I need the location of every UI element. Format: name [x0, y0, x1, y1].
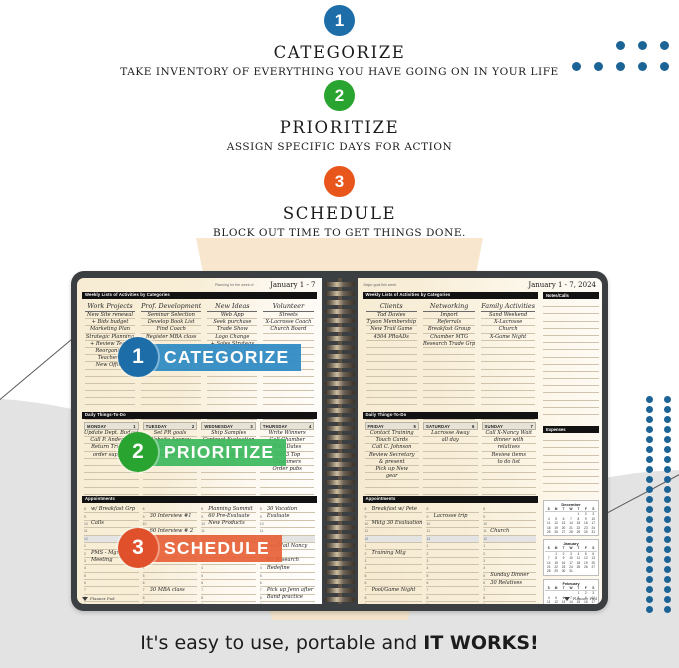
appointment-row[interactable]: 8	[365, 595, 423, 602]
spiral-ring	[325, 525, 355, 530]
ruled-line[interactable]	[543, 393, 599, 400]
list-row[interactable]: 4504 PRoADs	[366, 334, 418, 341]
todo-item: dinner with	[482, 437, 537, 444]
right-page-brand-text: Planner Pad	[572, 596, 597, 601]
appointment-hour: 12	[84, 537, 91, 541]
todo-row[interactable]	[482, 480, 537, 487]
todo-item: & present	[365, 459, 420, 466]
todo-row[interactable]	[423, 466, 478, 473]
appointment-hour: 7	[365, 588, 372, 592]
appointment-hour: 8	[365, 596, 372, 600]
list-item: Import	[423, 312, 475, 319]
mini-calendar-day[interactable]: 27	[560, 530, 567, 534]
appointment-row[interactable]: 5	[84, 573, 139, 580]
appointment-row[interactable]: 3	[483, 558, 536, 565]
appointment-hour: 8	[365, 507, 372, 511]
list-row[interactable]	[423, 348, 475, 355]
spiral-ring	[325, 543, 355, 548]
appointment-row[interactable]: 4	[365, 565, 423, 572]
mini-calendar-day[interactable]: 28	[567, 530, 574, 534]
ruled-line[interactable]	[543, 336, 599, 343]
appointment-hour: 12	[483, 537, 490, 541]
decorative-dot	[646, 536, 653, 543]
list-row[interactable]	[481, 370, 535, 377]
appointment-row[interactable]: 9	[365, 602, 423, 604]
appointment-row[interactable]: 730 MBA class	[143, 587, 198, 594]
todo-row[interactable]	[143, 480, 198, 487]
list-row[interactable]: Sand Weekend	[481, 312, 535, 319]
mini-calendar-day[interactable]: 29	[575, 530, 582, 534]
list-row[interactable]	[85, 391, 135, 398]
list-row[interactable]: Tad Davies	[366, 312, 418, 319]
decorative-dot	[664, 416, 671, 423]
list-row[interactable]	[481, 341, 535, 348]
list-row[interactable]	[366, 384, 418, 391]
step-1-title: CATEGORIZE	[0, 43, 679, 62]
ruled-line[interactable]	[543, 408, 599, 415]
appointment-row[interactable]: 7Pool/Game Night	[365, 587, 423, 594]
todo-row[interactable]	[260, 488, 315, 495]
appointment-row[interactable]: 9	[483, 513, 536, 520]
list-column: ClientsTad DaviesTyson MembershipNew Tra…	[363, 302, 421, 420]
decorative-dot	[646, 596, 653, 603]
list-row[interactable]	[263, 398, 313, 405]
appointment-row[interactable]: 3	[426, 558, 479, 565]
left-page-brandmark: Planner Pad	[82, 596, 115, 601]
ruled-line[interactable]	[543, 358, 599, 365]
appointment-row[interactable]: 8Band practice	[260, 595, 315, 602]
decorative-dot	[646, 496, 653, 503]
list-row[interactable]	[481, 362, 535, 369]
todo-row[interactable]: to do list	[482, 459, 537, 466]
mini-calendar-day[interactable]: 29	[552, 569, 559, 573]
list-row[interactable]	[423, 391, 475, 398]
todo-row[interactable]: Call C. Johnson	[365, 444, 420, 451]
list-row[interactable]	[423, 355, 475, 362]
list-row[interactable]	[366, 341, 418, 348]
decorative-dot	[664, 486, 671, 493]
appointment-row[interactable]: 930 Interview #1	[143, 513, 198, 520]
todo-row[interactable]	[84, 488, 139, 495]
mini-calendar-day[interactable]: 26	[552, 530, 559, 534]
appointment-row[interactable]: 11	[426, 528, 479, 535]
list-column-header: New Ideas	[207, 302, 257, 312]
list-row[interactable]	[423, 377, 475, 384]
list-row[interactable]	[141, 391, 201, 398]
appointment-row[interactable]: 7	[201, 587, 256, 594]
appointment-column: 89Lacrosse trip101112123456789	[424, 506, 481, 604]
appointment-hour: 6	[201, 581, 208, 585]
todo-row[interactable]: Call X-Nancy Wait	[482, 430, 537, 437]
ruled-line[interactable]	[543, 322, 599, 329]
todo-row[interactable]: Lacrosse Away	[423, 430, 478, 437]
list-row[interactable]: Chamber MTG	[423, 334, 475, 341]
appointment-row[interactable]: 7	[483, 587, 536, 594]
decorative-dot	[646, 546, 653, 553]
appointment-row[interactable]: 9	[84, 602, 139, 604]
list-row[interactable]: Seminar Selection	[141, 312, 201, 319]
spiral-ring	[325, 489, 355, 494]
list-column-header: Networking	[423, 302, 475, 312]
ruled-line[interactable]	[543, 365, 599, 372]
list-row[interactable]	[423, 362, 475, 369]
ruled-line[interactable]	[543, 401, 599, 408]
ruled-line[interactable]	[543, 350, 599, 357]
list-row[interactable]: X-Lacrosse Coach	[263, 319, 313, 326]
spiral-ring	[325, 399, 355, 404]
todo-row[interactable]: gear	[365, 473, 420, 480]
appointment-hour: 5	[426, 574, 433, 578]
appointment-row[interactable]: 2	[483, 550, 536, 557]
list-item: Church	[481, 326, 535, 333]
appointment-row[interactable]: 10Mktg 30 Evaluation	[365, 521, 423, 528]
todo-item: Review Secretary	[365, 452, 420, 459]
list-row[interactable]: Research Trade Grp	[423, 341, 475, 348]
todo-row[interactable]: Review Secretary	[365, 452, 420, 459]
appointment-entry: Band practice	[267, 594, 315, 601]
list-row[interactable]	[366, 391, 418, 398]
appointment-row[interactable]: 8	[483, 506, 536, 513]
appointment-row[interactable]: 8w/ Breakfast Grp	[84, 506, 139, 513]
list-item: Streets	[263, 312, 313, 319]
list-row[interactable]	[263, 377, 313, 384]
appointment-hour: 1	[365, 544, 372, 548]
appointment-row[interactable]: 5	[365, 573, 423, 580]
list-row[interactable]	[85, 398, 135, 405]
appointment-row[interactable]: 1	[483, 543, 536, 550]
appointment-row[interactable]: 8	[143, 595, 198, 602]
todo-row[interactable]	[260, 473, 315, 480]
mini-calendar-day[interactable]	[575, 569, 582, 573]
mini-calendar-day[interactable]: 12	[552, 600, 559, 604]
ruled-line[interactable]	[543, 386, 599, 393]
appointment-row[interactable]: 12	[483, 536, 536, 543]
step-2: 2 PRIORITIZE ASSIGN SPECIFIC DAYS FOR AC…	[0, 80, 679, 153]
list-row[interactable]	[263, 384, 313, 391]
list-row[interactable]	[481, 355, 535, 362]
list-row[interactable]	[141, 384, 201, 391]
list-item: Tad Davies	[366, 312, 418, 319]
appointment-hour: 3	[84, 559, 91, 563]
right-appointments-columns: 8Breakfast w/ Pete910Mktg 30 Evaluation1…	[363, 506, 539, 604]
right-weekly-lists-section: Weekly Lists of Activities by Categories…	[363, 292, 539, 420]
appointment-row[interactable]: 9	[260, 602, 315, 604]
appointment-row[interactable]: 2Training Mtg	[365, 550, 423, 557]
list-row[interactable]: New Trail Game	[366, 326, 418, 333]
mini-calendar-day[interactable]: 30	[582, 530, 589, 534]
appointment-row[interactable]: 6	[201, 580, 256, 587]
list-row[interactable]: Web App	[207, 312, 257, 319]
list-item: Trade Show	[207, 326, 257, 333]
day-header: FRIDAY5	[365, 422, 420, 430]
appointment-hour: 11	[84, 529, 91, 533]
list-row[interactable]	[141, 398, 201, 405]
appointment-row[interactable]: 9	[426, 602, 479, 604]
todo-row[interactable]	[423, 488, 478, 495]
list-row[interactable]	[423, 384, 475, 391]
appointment-row[interactable]: 8	[201, 595, 256, 602]
todo-row[interactable]	[260, 480, 315, 487]
todo-row[interactable]: Contact Training	[365, 430, 420, 437]
appointment-row[interactable]: 9	[201, 602, 256, 604]
decorative-dot	[664, 446, 671, 453]
todo-row[interactable]	[143, 473, 198, 480]
list-row[interactable]	[423, 398, 475, 405]
list-row[interactable]	[366, 398, 418, 405]
ruled-line[interactable]	[543, 463, 599, 470]
todo-row[interactable]: relatives	[482, 444, 537, 451]
appointment-hour: 8	[260, 596, 267, 600]
list-row[interactable]: Trade Show	[207, 326, 257, 333]
appointment-row[interactable]: 11	[365, 528, 423, 535]
list-row[interactable]	[141, 377, 201, 384]
appointment-hour: 1	[84, 544, 91, 548]
appointment-row[interactable]: 3	[365, 558, 423, 565]
mini-calendar-day[interactable]: 28	[545, 569, 552, 573]
appointment-row[interactable]: 6	[84, 580, 139, 587]
decorative-dot	[664, 606, 671, 613]
todo-row[interactable]	[482, 466, 537, 473]
list-item: Sand Weekend	[481, 312, 535, 319]
decorative-dot	[664, 596, 671, 603]
appointment-row[interactable]: 6	[426, 580, 479, 587]
mini-calendar-day[interactable]: 31	[567, 569, 574, 573]
decorative-dot	[664, 556, 671, 563]
list-row[interactable]: Import	[423, 312, 475, 319]
ruled-line[interactable]	[543, 434, 599, 441]
appointment-row[interactable]: 2	[426, 550, 479, 557]
list-row[interactable]: Referrals	[423, 319, 475, 326]
day-header: MONDAY1	[84, 422, 139, 430]
mini-calendar-day[interactable]	[590, 569, 597, 573]
decorative-dot	[646, 526, 653, 533]
list-row[interactable]: Develop Book List	[141, 319, 201, 326]
appointment-row[interactable]: 9	[143, 602, 198, 604]
list-row[interactable]: Church Board	[263, 326, 313, 333]
appointment-hour: 9	[84, 603, 91, 604]
mini-calendar: DecemberSMTWTFS1234567891011121314151617…	[543, 500, 599, 536]
mini-calendar-day[interactable]: 25	[545, 530, 552, 534]
todo-row[interactable]	[423, 444, 478, 451]
todo-row[interactable]	[365, 488, 420, 495]
day-header: SATURDAY6	[423, 422, 478, 430]
appointment-row[interactable]: 8Breakfast w/ Pete	[365, 506, 423, 513]
appointment-hour: 10	[426, 522, 433, 526]
overlay-stamp-2-number: 2	[118, 432, 158, 472]
ruled-line[interactable]	[543, 456, 599, 463]
list-row[interactable]	[207, 391, 257, 398]
list-row[interactable]	[207, 384, 257, 391]
todo-row[interactable]	[201, 488, 256, 495]
appointment-row[interactable]: 7	[84, 587, 139, 594]
list-row[interactable]: X-Game Night	[481, 334, 535, 341]
decorative-dot	[664, 456, 671, 463]
list-row[interactable]	[481, 384, 535, 391]
todo-row[interactable]: Touch Cards	[365, 437, 420, 444]
appointment-row[interactable]: 9Lacrosse trip	[426, 513, 479, 520]
todo-row[interactable]	[423, 452, 478, 459]
spiral-ring	[325, 552, 355, 557]
todo-row[interactable]	[143, 488, 198, 495]
left-page-brand-text: Planner Pad	[90, 596, 115, 601]
appointment-row[interactable]: 630 Relatives	[483, 580, 536, 587]
appointment-row[interactable]: 8	[483, 595, 536, 602]
todo-row[interactable]	[482, 488, 537, 495]
list-item: Marketing Plan	[85, 326, 135, 333]
spiral-ring	[325, 363, 355, 368]
appointment-hour: 9	[483, 515, 490, 519]
day-column: SATURDAY6Lacrosse Awayall day	[421, 422, 480, 495]
list-row[interactable]: Find Coach	[141, 326, 201, 333]
ruled-line[interactable]	[543, 372, 599, 379]
day-column: SUNDAY7Call X-Nancy Waitdinner withrelat…	[480, 422, 539, 495]
list-row[interactable]: Streets	[263, 312, 313, 319]
appointment-row[interactable]: 1	[426, 543, 479, 550]
appointment-entry: Planning Summit	[208, 506, 256, 513]
appointment-row[interactable]: 5	[143, 573, 198, 580]
todo-row[interactable]	[201, 473, 256, 480]
appointment-row[interactable]: 5	[260, 573, 315, 580]
appointment-entry: Pool/Game Night	[372, 587, 423, 594]
spiral-ring	[325, 327, 355, 332]
appointment-hour: 4	[426, 566, 433, 570]
todo-row[interactable]	[482, 473, 537, 480]
list-row[interactable]	[207, 398, 257, 405]
right-weekly-lists-bar-label: Weekly Lists of Activities by Categories	[363, 293, 451, 297]
ruled-line[interactable]	[543, 441, 599, 448]
list-row[interactable]	[366, 362, 418, 369]
day-number: 6	[472, 424, 475, 429]
spiral-ring	[325, 579, 355, 584]
todo-row[interactable]: Pick up New	[365, 466, 420, 473]
appointment-hour: 3	[426, 559, 433, 563]
spiral-ring	[325, 345, 355, 350]
ruled-line[interactable]	[543, 300, 599, 307]
todo-row[interactable]: dinner with	[482, 437, 537, 444]
todo-row[interactable]	[423, 459, 478, 466]
appointment-hour: 5	[201, 574, 208, 578]
todo-row[interactable]	[423, 473, 478, 480]
appointment-row[interactable]: 5	[426, 573, 479, 580]
ruled-line[interactable]	[543, 477, 599, 484]
list-row[interactable]: Breakfast Group	[423, 326, 475, 333]
appointment-hour: 9	[84, 515, 91, 519]
todo-item: Call X-Nancy Wait	[482, 430, 537, 437]
mini-calendar-day[interactable]: 30	[560, 569, 567, 573]
ruled-line[interactable]	[543, 484, 599, 491]
todo-row[interactable]: Review items	[482, 452, 537, 459]
mini-calendar-day[interactable]: 31	[590, 530, 597, 534]
list-row[interactable]	[207, 377, 257, 384]
list-column-header: Volunteer	[263, 302, 313, 312]
list-row[interactable]: Seek purchase	[207, 319, 257, 326]
ruled-line[interactable]	[543, 314, 599, 321]
appointment-row[interactable]: 8	[426, 595, 479, 602]
todo-row[interactable]	[201, 480, 256, 487]
list-row[interactable]	[85, 377, 135, 384]
mini-calendar-day[interactable]	[582, 569, 589, 573]
todo-row[interactable]	[84, 480, 139, 487]
list-row[interactable]	[481, 398, 535, 405]
list-item: Breakfast Group	[423, 326, 475, 333]
todo-row[interactable]	[423, 480, 478, 487]
appointment-hour: 8	[201, 596, 208, 600]
appointment-row[interactable]: 7	[426, 587, 479, 594]
decorative-dot	[646, 566, 653, 573]
ruled-line[interactable]	[543, 448, 599, 455]
list-row[interactable]	[366, 377, 418, 384]
todo-row[interactable]	[84, 473, 139, 480]
list-row[interactable]	[481, 348, 535, 355]
right-weekly-lists-columns: ClientsTad DaviesTyson MembershipNew Tra…	[363, 302, 539, 420]
list-row[interactable]	[366, 370, 418, 377]
list-row[interactable]: + Bids budget	[85, 319, 135, 326]
appointment-row[interactable]: 5	[201, 573, 256, 580]
decorative-dot	[646, 456, 653, 463]
list-row[interactable]: Tyson Membership	[366, 319, 418, 326]
appointment-entry: Evaluate	[267, 513, 315, 520]
ruled-line[interactable]	[543, 343, 599, 350]
appointment-hour: 6	[426, 581, 433, 585]
ruled-line[interactable]	[543, 329, 599, 336]
appointment-row[interactable]: 9	[483, 602, 536, 604]
day-header: WEDNESDAY3	[201, 422, 256, 430]
list-row[interactable]	[366, 348, 418, 355]
todo-row[interactable]	[365, 480, 420, 487]
list-row[interactable]	[423, 370, 475, 377]
right-todo-columns: FRIDAY5Contact TrainingTouch CardsCall C…	[363, 422, 539, 495]
todo-item: Lacrosse Away	[423, 430, 478, 437]
mini-calendar-day[interactable]: 11	[545, 600, 552, 604]
list-row[interactable]: New Site renewal	[85, 312, 135, 319]
list-row[interactable]	[85, 384, 135, 391]
decorative-dot	[664, 466, 671, 473]
decorative-dot	[664, 506, 671, 513]
right-notes-label: Notes/Calls	[546, 293, 569, 298]
appointment-row[interactable]: 12	[426, 536, 479, 543]
appointment-row[interactable]: 4	[426, 565, 479, 572]
appointment-row[interactable]: 9Evaluate	[260, 513, 315, 520]
ruled-line[interactable]	[543, 470, 599, 477]
ruled-line[interactable]	[543, 379, 599, 386]
todo-item: gear	[365, 473, 420, 480]
decorative-dot	[664, 536, 671, 543]
appointment-row[interactable]: 12	[365, 536, 423, 543]
decorative-dot	[646, 476, 653, 483]
list-row[interactable]	[263, 391, 313, 398]
list-row[interactable]	[481, 377, 535, 384]
list-row[interactable]: X-Lacrosse	[481, 319, 535, 326]
decorative-dot	[646, 516, 653, 523]
appointment-row[interactable]: 11Church	[483, 528, 536, 535]
appointment-row[interactable]: 10	[426, 521, 479, 528]
appointment-entry: Mktg 30 Evaluation	[372, 520, 423, 527]
list-row[interactable]	[481, 391, 535, 398]
list-item: Develop Book List	[141, 319, 201, 326]
todo-row[interactable]: all day	[423, 437, 478, 444]
list-item: X-Lacrosse Coach	[263, 319, 313, 326]
list-row[interactable]: Church	[481, 326, 535, 333]
appointment-entry: Training Mtg	[372, 550, 423, 557]
list-row[interactable]: Marketing Plan	[85, 326, 135, 333]
spiral-ring	[325, 291, 355, 296]
ruled-line[interactable]	[543, 307, 599, 314]
appointment-hour: 10	[201, 522, 208, 526]
todo-row[interactable]: & present	[365, 459, 420, 466]
appointment-hour: 7	[483, 588, 490, 592]
right-notes-lines	[543, 300, 599, 415]
list-row[interactable]	[366, 355, 418, 362]
